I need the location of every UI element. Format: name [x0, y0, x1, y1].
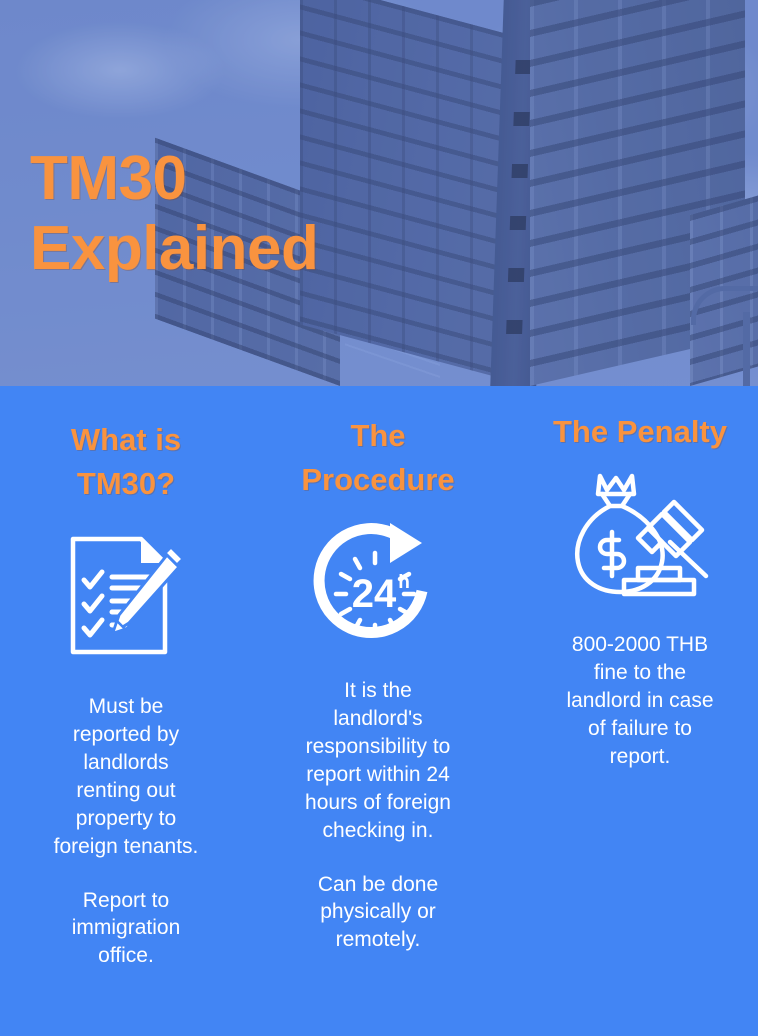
column-what-is-tm30: What is TM30?: [0, 386, 252, 970]
poster-title: TM30 Explained: [30, 148, 318, 280]
column-paragraph: It is the landlord's responsibility to r…: [303, 677, 453, 845]
infographic-poster: TM30 Explained What is TM30?: [0, 0, 758, 1036]
column-paragraph: Must be reported by landlords renting ou…: [50, 693, 202, 861]
column-heading: The Penalty: [548, 410, 733, 454]
title-line-one: TM30: [30, 148, 318, 210]
column-paragraph: 800-2000 THB fine to the landlord in cas…: [558, 631, 723, 771]
column-paragraph: Report to immigration office.: [50, 887, 202, 971]
column-heading: The Procedure: [281, 414, 476, 502]
column-the-penalty: The Penalty: [504, 386, 756, 771]
column-the-procedure: The Procedure: [252, 386, 504, 954]
svg-text:24: 24: [352, 572, 397, 616]
title-line-two: Explained: [30, 218, 318, 280]
content-columns: What is TM30?: [0, 386, 758, 970]
checklist-pencil-icon: [67, 528, 185, 663]
svg-text:h: h: [398, 572, 410, 593]
money-bag-gavel-icon: [566, 468, 716, 603]
column-heading: What is TM30?: [39, 418, 214, 506]
column-paragraph: Can be done physically or remotely.: [303, 871, 453, 955]
24-hour-clock-arrow-icon: 24 h: [312, 518, 444, 653]
